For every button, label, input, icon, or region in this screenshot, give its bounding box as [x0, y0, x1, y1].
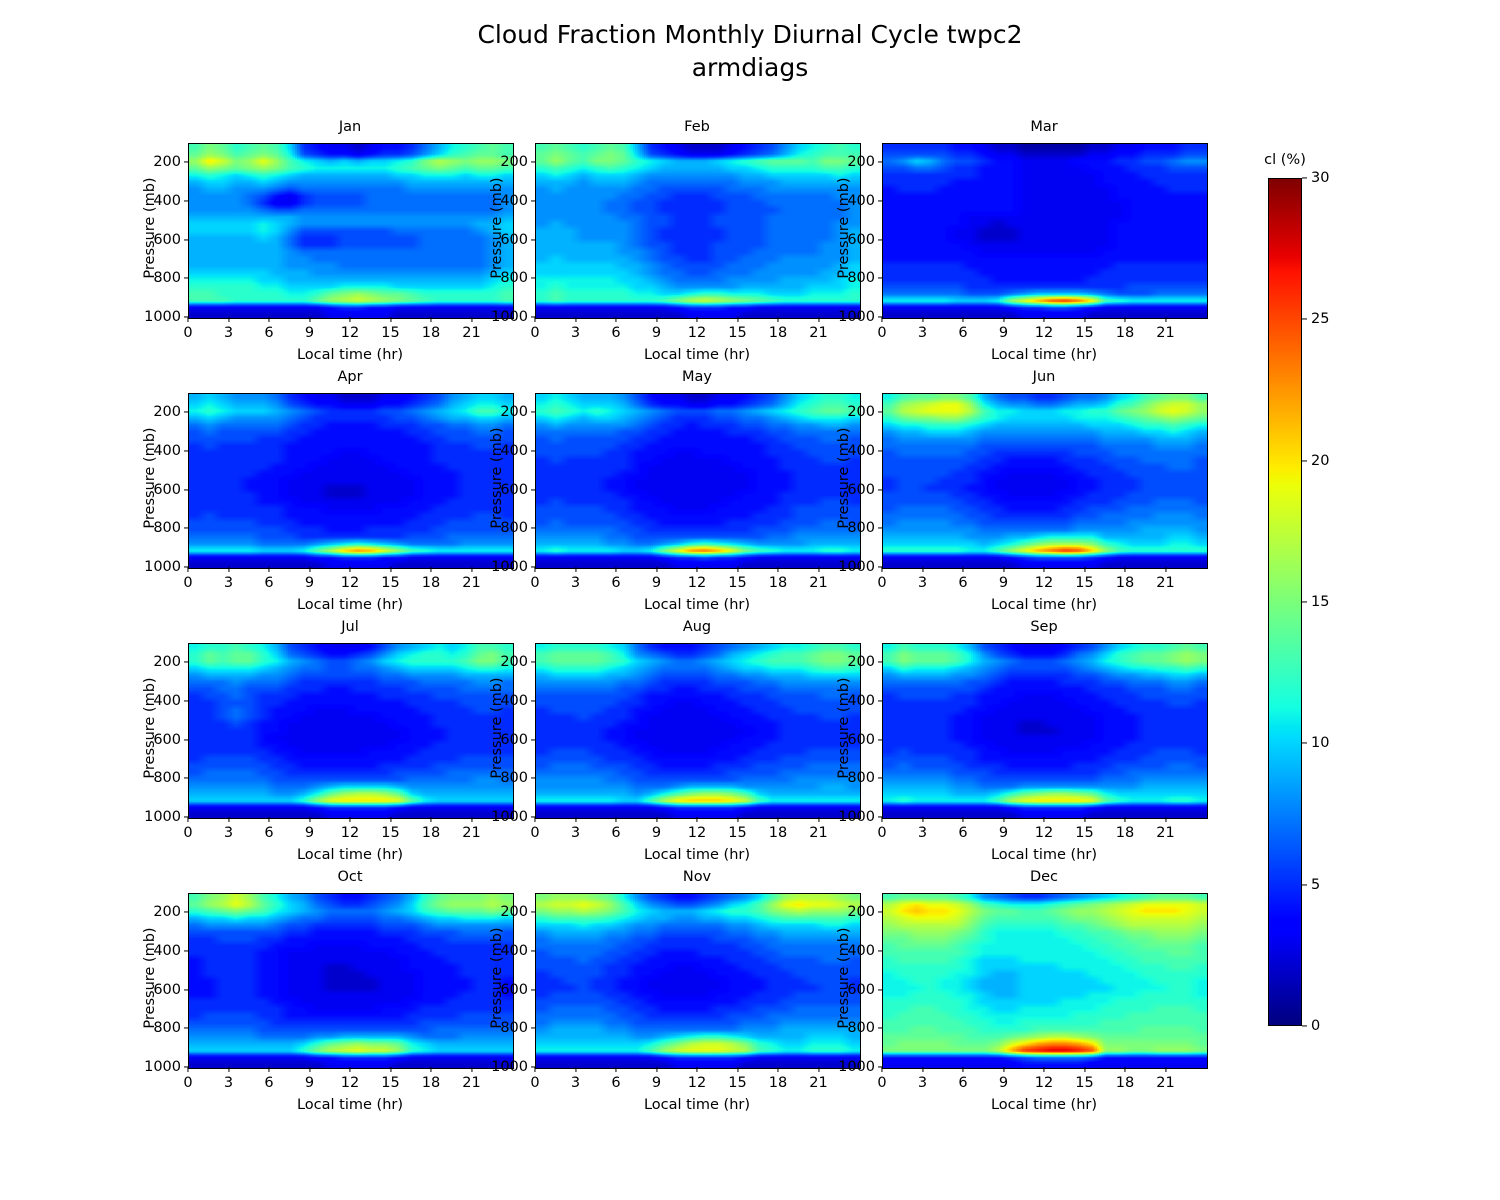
- x-tick-label: 12: [688, 825, 706, 841]
- heatmap-may[interactable]: [535, 393, 861, 569]
- y-tick-label: 1000: [838, 1059, 875, 1075]
- x-tick-label: 12: [688, 1075, 706, 1091]
- x-tick-mark: [534, 817, 535, 822]
- y-tick-mark: [878, 1028, 883, 1029]
- x-tick-mark: [881, 567, 882, 572]
- x-tick-mark: [737, 817, 738, 822]
- heatmap-apr[interactable]: [188, 393, 514, 569]
- x-tick-mark: [1165, 567, 1166, 572]
- y-tick-mark: [184, 450, 189, 451]
- panel-jul: Jul2004006008001000036912151821Local tim…: [188, 643, 512, 817]
- heatmap-canvas: [536, 894, 860, 1068]
- x-tick-label: 15: [381, 325, 399, 341]
- x-tick-label: 6: [264, 825, 273, 841]
- x-tick-mark: [1084, 817, 1085, 822]
- y-tick-mark: [878, 950, 883, 951]
- y-tick-mark: [184, 700, 189, 701]
- x-tick-label: 21: [462, 575, 480, 591]
- x-tick-label: 0: [530, 825, 539, 841]
- panel-title: Sep: [882, 619, 1206, 635]
- x-tick-mark: [656, 567, 657, 572]
- y-tick-mark: [531, 778, 536, 779]
- x-tick-label: 15: [728, 825, 746, 841]
- panel-title: Dec: [882, 869, 1206, 885]
- x-tick-label: 3: [224, 1075, 233, 1091]
- x-tick-mark: [1165, 817, 1166, 822]
- x-tick-label: 6: [611, 1075, 620, 1091]
- heatmap-jan[interactable]: [188, 143, 514, 319]
- y-tick-mark: [184, 162, 189, 163]
- panel-title: Nov: [535, 869, 859, 885]
- x-tick-label: 6: [611, 325, 620, 341]
- x-tick-mark: [818, 1067, 819, 1072]
- x-tick-label: 6: [958, 825, 967, 841]
- x-tick-mark: [1003, 317, 1004, 322]
- x-tick-label: 18: [769, 575, 787, 591]
- x-tick-label: 0: [183, 575, 192, 591]
- x-tick-label: 12: [1035, 825, 1053, 841]
- x-tick-label: 18: [1116, 325, 1134, 341]
- y-tick-mark: [878, 239, 883, 240]
- x-tick-label: 6: [958, 1075, 967, 1091]
- panel-aug: Aug2004006008001000036912151821Local tim…: [535, 643, 859, 817]
- x-tick-label: 6: [264, 1075, 273, 1091]
- x-tick-label: 12: [688, 325, 706, 341]
- x-tick-label: 0: [183, 325, 192, 341]
- heatmap-jun[interactable]: [882, 393, 1208, 569]
- colorbar-label: cl (%): [1264, 152, 1306, 168]
- y-tick-label: 1000: [491, 309, 528, 325]
- panel-title: Feb: [535, 119, 859, 135]
- x-tick-label: 3: [571, 825, 580, 841]
- x-tick-label: 12: [341, 575, 359, 591]
- y-tick-mark: [184, 950, 189, 951]
- heatmap-canvas: [189, 144, 513, 318]
- panel-apr: Apr2004006008001000036912151821Local tim…: [188, 393, 512, 567]
- panel-title: Aug: [535, 619, 859, 635]
- colorbar-tick-label: 15: [1311, 594, 1329, 610]
- y-tick-label: 1000: [491, 1059, 528, 1075]
- y-tick-mark: [531, 162, 536, 163]
- x-tick-mark: [228, 317, 229, 322]
- x-axis-label: Local time (hr): [188, 597, 512, 613]
- colorbar-tick-label: 5: [1311, 877, 1320, 893]
- x-tick-label: 18: [422, 825, 440, 841]
- panel-sep: Sep2004006008001000036912151821Local tim…: [882, 643, 1206, 817]
- x-tick-label: 12: [341, 1075, 359, 1091]
- y-tick-mark: [531, 450, 536, 451]
- x-tick-mark: [656, 817, 657, 822]
- x-tick-mark: [881, 317, 882, 322]
- colorbar-tick-label: 30: [1311, 170, 1329, 186]
- y-tick-label: 1000: [144, 1059, 181, 1075]
- x-tick-mark: [696, 817, 697, 822]
- y-tick-label: 1000: [491, 559, 528, 575]
- x-tick-mark: [737, 317, 738, 322]
- x-tick-label: 18: [769, 325, 787, 341]
- x-tick-mark: [1043, 567, 1044, 572]
- x-tick-label: 3: [918, 325, 927, 341]
- x-tick-mark: [390, 567, 391, 572]
- heatmap-sep[interactable]: [882, 643, 1208, 819]
- x-tick-mark: [309, 317, 310, 322]
- colorbar-tick-mark: [1302, 884, 1307, 885]
- heatmap-canvas: [883, 644, 1207, 818]
- x-tick-label: 15: [1075, 825, 1093, 841]
- x-tick-mark: [390, 317, 391, 322]
- x-axis-label: Local time (hr): [882, 1097, 1206, 1113]
- x-tick-mark: [349, 317, 350, 322]
- x-tick-label: 21: [809, 825, 827, 841]
- x-tick-mark: [1043, 817, 1044, 822]
- x-tick-label: 18: [769, 825, 787, 841]
- x-tick-label: 6: [264, 325, 273, 341]
- x-tick-label: 15: [1075, 325, 1093, 341]
- y-axis-label: Pressure (mb): [836, 908, 852, 1048]
- y-tick-mark: [184, 1028, 189, 1029]
- x-tick-mark: [187, 567, 188, 572]
- x-tick-label: 18: [1116, 1075, 1134, 1091]
- y-axis-label: Pressure (mb): [142, 658, 158, 798]
- x-tick-mark: [777, 567, 778, 572]
- x-tick-mark: [309, 567, 310, 572]
- y-tick-mark: [184, 739, 189, 740]
- x-tick-label: 9: [999, 1075, 1008, 1091]
- x-tick-label: 0: [877, 575, 886, 591]
- heatmap-feb[interactable]: [535, 143, 861, 319]
- y-axis-label: Pressure (mb): [836, 408, 852, 548]
- x-tick-label: 3: [571, 575, 580, 591]
- y-axis-label: Pressure (mb): [489, 908, 505, 1048]
- x-axis-label: Local time (hr): [535, 597, 859, 613]
- y-tick-mark: [184, 489, 189, 490]
- x-tick-mark: [922, 817, 923, 822]
- x-tick-label: 18: [1116, 825, 1134, 841]
- panel-title: May: [535, 369, 859, 385]
- x-tick-mark: [1084, 317, 1085, 322]
- panel-mar: Mar2004006008001000036912151821Local tim…: [882, 143, 1206, 317]
- colorbar-tick-mark: [1302, 319, 1307, 320]
- x-tick-label: 15: [381, 825, 399, 841]
- y-tick-label: 1000: [491, 809, 528, 825]
- y-axis-label: Pressure (mb): [836, 158, 852, 298]
- y-tick-mark: [531, 200, 536, 201]
- y-tick-mark: [878, 412, 883, 413]
- x-tick-label: 0: [877, 825, 886, 841]
- x-tick-label: 9: [999, 575, 1008, 591]
- y-tick-mark: [878, 162, 883, 163]
- heatmap-aug[interactable]: [535, 643, 861, 819]
- x-tick-mark: [1043, 1067, 1044, 1072]
- x-tick-label: 0: [530, 575, 539, 591]
- x-tick-mark: [696, 317, 697, 322]
- y-axis-label: Pressure (mb): [489, 158, 505, 298]
- x-tick-label: 12: [341, 825, 359, 841]
- colorbar-gradient: [1268, 178, 1302, 1026]
- y-tick-mark: [878, 700, 883, 701]
- x-tick-label: 3: [918, 1075, 927, 1091]
- x-tick-label: 21: [462, 325, 480, 341]
- y-tick-mark: [878, 989, 883, 990]
- x-tick-label: 15: [1075, 1075, 1093, 1091]
- y-tick-label: 1000: [144, 809, 181, 825]
- x-tick-mark: [881, 817, 882, 822]
- x-tick-label: 0: [877, 1075, 886, 1091]
- x-axis-label: Local time (hr): [535, 347, 859, 363]
- x-tick-mark: [1165, 1067, 1166, 1072]
- x-tick-mark: [534, 567, 535, 572]
- x-tick-mark: [962, 1067, 963, 1072]
- x-tick-mark: [309, 817, 310, 822]
- x-tick-mark: [962, 567, 963, 572]
- y-tick-mark: [878, 662, 883, 663]
- heatmap-canvas: [536, 144, 860, 318]
- x-tick-mark: [1043, 317, 1044, 322]
- heatmap-canvas: [536, 644, 860, 818]
- y-tick-mark: [531, 489, 536, 490]
- y-axis-label: Pressure (mb): [142, 408, 158, 548]
- x-tick-label: 15: [728, 575, 746, 591]
- x-tick-label: 6: [264, 575, 273, 591]
- colorbar: cl (%) 051015202530: [1268, 178, 1302, 1026]
- x-tick-label: 21: [1156, 825, 1174, 841]
- x-tick-label: 12: [341, 325, 359, 341]
- x-tick-mark: [922, 567, 923, 572]
- x-tick-label: 21: [462, 825, 480, 841]
- x-tick-mark: [777, 817, 778, 822]
- y-tick-mark: [878, 912, 883, 913]
- panel-title: Apr: [188, 369, 512, 385]
- x-tick-label: 6: [958, 325, 967, 341]
- x-tick-mark: [430, 567, 431, 572]
- y-tick-mark: [184, 662, 189, 663]
- x-tick-mark: [471, 567, 472, 572]
- y-tick-mark: [184, 278, 189, 279]
- x-tick-label: 0: [530, 325, 539, 341]
- x-tick-label: 12: [1035, 1075, 1053, 1091]
- x-tick-mark: [615, 567, 616, 572]
- x-tick-mark: [656, 317, 657, 322]
- x-tick-label: 9: [652, 325, 661, 341]
- colorbar-tick-mark: [1302, 601, 1307, 602]
- x-tick-label: 9: [999, 825, 1008, 841]
- y-tick-label: 1000: [144, 309, 181, 325]
- x-tick-label: 21: [1156, 1075, 1174, 1091]
- heatmap-jul[interactable]: [188, 643, 514, 819]
- y-axis-label: Pressure (mb): [489, 658, 505, 798]
- x-tick-label: 9: [305, 575, 314, 591]
- y-tick-mark: [531, 950, 536, 951]
- x-tick-label: 18: [1116, 575, 1134, 591]
- heatmap-nov[interactable]: [535, 893, 861, 1069]
- x-tick-label: 18: [422, 325, 440, 341]
- x-tick-mark: [534, 317, 535, 322]
- x-tick-mark: [1124, 317, 1125, 322]
- x-tick-label: 3: [224, 825, 233, 841]
- x-tick-label: 21: [462, 1075, 480, 1091]
- x-tick-mark: [309, 1067, 310, 1072]
- colorbar-tick-mark: [1302, 1025, 1307, 1026]
- x-tick-label: 9: [305, 825, 314, 841]
- y-tick-mark: [531, 239, 536, 240]
- y-tick-mark: [531, 412, 536, 413]
- y-tick-mark: [531, 662, 536, 663]
- y-tick-mark: [531, 912, 536, 913]
- panel-title: Jan: [188, 119, 512, 135]
- x-tick-label: 18: [422, 1075, 440, 1091]
- x-tick-mark: [575, 567, 576, 572]
- y-tick-label: 1000: [144, 559, 181, 575]
- x-tick-label: 21: [809, 1075, 827, 1091]
- x-tick-label: 0: [877, 325, 886, 341]
- heatmap-canvas: [189, 644, 513, 818]
- x-tick-label: 21: [809, 325, 827, 341]
- heatmap-canvas: [883, 894, 1207, 1068]
- colorbar-tick-mark: [1302, 743, 1307, 744]
- x-tick-mark: [818, 567, 819, 572]
- panel-dec: Dec2004006008001000036912151821Local tim…: [882, 893, 1206, 1067]
- x-tick-mark: [187, 817, 188, 822]
- x-axis-label: Local time (hr): [188, 1097, 512, 1113]
- y-tick-mark: [184, 412, 189, 413]
- x-tick-mark: [922, 1067, 923, 1072]
- x-tick-label: 15: [381, 1075, 399, 1091]
- heatmap-canvas: [536, 394, 860, 568]
- y-tick-mark: [878, 778, 883, 779]
- y-tick-mark: [184, 778, 189, 779]
- x-axis-label: Local time (hr): [188, 847, 512, 863]
- heatmap-canvas: [883, 394, 1207, 568]
- x-tick-mark: [430, 317, 431, 322]
- x-tick-label: 3: [918, 575, 927, 591]
- y-tick-mark: [184, 989, 189, 990]
- x-tick-label: 12: [1035, 325, 1053, 341]
- y-tick-mark: [531, 989, 536, 990]
- x-tick-mark: [268, 317, 269, 322]
- panel-title: Mar: [882, 119, 1206, 135]
- heatmap-canvas: [883, 144, 1207, 318]
- x-tick-mark: [228, 1067, 229, 1072]
- panel-nov: Nov2004006008001000036912151821Local tim…: [535, 893, 859, 1067]
- x-tick-label: 15: [381, 575, 399, 591]
- x-tick-mark: [390, 817, 391, 822]
- panel-may: May2004006008001000036912151821Local tim…: [535, 393, 859, 567]
- x-tick-label: 0: [183, 825, 192, 841]
- x-tick-mark: [656, 1067, 657, 1072]
- x-tick-mark: [696, 567, 697, 572]
- x-tick-mark: [737, 1067, 738, 1072]
- y-tick-label: 1000: [838, 309, 875, 325]
- heatmap-dec[interactable]: [882, 893, 1208, 1069]
- x-tick-mark: [1003, 817, 1004, 822]
- y-tick-mark: [531, 700, 536, 701]
- colorbar-tick-label: 10: [1311, 735, 1329, 751]
- x-tick-mark: [615, 817, 616, 822]
- x-axis-label: Local time (hr): [535, 847, 859, 863]
- x-tick-label: 9: [999, 325, 1008, 341]
- x-tick-label: 3: [224, 325, 233, 341]
- x-tick-mark: [349, 567, 350, 572]
- panel-oct: Oct2004006008001000036912151821Local tim…: [188, 893, 512, 1067]
- x-tick-mark: [962, 317, 963, 322]
- x-tick-mark: [471, 1067, 472, 1072]
- colorbar-tick-label: 20: [1311, 453, 1329, 469]
- y-tick-mark: [531, 528, 536, 529]
- x-tick-label: 0: [183, 1075, 192, 1091]
- y-tick-mark: [878, 278, 883, 279]
- x-tick-mark: [268, 1067, 269, 1072]
- x-axis-label: Local time (hr): [882, 847, 1206, 863]
- x-axis-label: Local time (hr): [882, 597, 1206, 613]
- figure-canvas: Cloud Fraction Monthly Diurnal Cycle twp…: [0, 0, 1500, 1200]
- heatmap-canvas: [189, 394, 513, 568]
- x-tick-label: 0: [530, 1075, 539, 1091]
- x-tick-mark: [1084, 567, 1085, 572]
- colorbar-tick-label: 0: [1311, 1018, 1320, 1034]
- x-tick-mark: [575, 1067, 576, 1072]
- heatmap-mar[interactable]: [882, 143, 1208, 319]
- x-tick-mark: [1124, 567, 1125, 572]
- x-tick-label: 15: [1075, 575, 1093, 591]
- x-tick-mark: [349, 1067, 350, 1072]
- x-tick-mark: [881, 1067, 882, 1072]
- x-tick-mark: [737, 567, 738, 572]
- x-tick-label: 6: [958, 575, 967, 591]
- colorbar-tick-mark: [1302, 460, 1307, 461]
- y-axis-label: Pressure (mb): [142, 158, 158, 298]
- x-tick-label: 9: [652, 575, 661, 591]
- x-tick-mark: [818, 317, 819, 322]
- x-tick-label: 15: [728, 1075, 746, 1091]
- y-axis-label: Pressure (mb): [489, 408, 505, 548]
- panel-title: Oct: [188, 869, 512, 885]
- figure-title: Cloud Fraction Monthly Diurnal Cycle twp…: [0, 18, 1500, 84]
- x-tick-mark: [430, 817, 431, 822]
- x-tick-mark: [228, 817, 229, 822]
- x-tick-label: 3: [224, 575, 233, 591]
- y-tick-label: 1000: [838, 809, 875, 825]
- x-tick-mark: [962, 817, 963, 822]
- x-tick-label: 9: [305, 325, 314, 341]
- x-tick-mark: [268, 817, 269, 822]
- x-tick-label: 3: [571, 1075, 580, 1091]
- x-tick-mark: [471, 317, 472, 322]
- x-tick-label: 18: [422, 575, 440, 591]
- x-axis-label: Local time (hr): [535, 1097, 859, 1113]
- x-tick-label: 3: [918, 825, 927, 841]
- x-tick-mark: [471, 817, 472, 822]
- panel-feb: Feb2004006008001000036912151821Local tim…: [535, 143, 859, 317]
- panel-title: Jun: [882, 369, 1206, 385]
- x-tick-mark: [575, 817, 576, 822]
- heatmap-oct[interactable]: [188, 893, 514, 1069]
- y-tick-mark: [878, 489, 883, 490]
- y-tick-mark: [184, 912, 189, 913]
- x-tick-mark: [1124, 1067, 1125, 1072]
- panel-title: Jul: [188, 619, 512, 635]
- x-tick-mark: [228, 567, 229, 572]
- x-tick-mark: [615, 1067, 616, 1072]
- x-tick-mark: [349, 817, 350, 822]
- y-tick-mark: [878, 200, 883, 201]
- y-tick-mark: [184, 528, 189, 529]
- y-tick-label: 1000: [838, 559, 875, 575]
- x-tick-label: 21: [809, 575, 827, 591]
- x-tick-mark: [1124, 817, 1125, 822]
- x-tick-label: 9: [305, 1075, 314, 1091]
- x-tick-label: 15: [728, 325, 746, 341]
- y-tick-mark: [531, 1028, 536, 1029]
